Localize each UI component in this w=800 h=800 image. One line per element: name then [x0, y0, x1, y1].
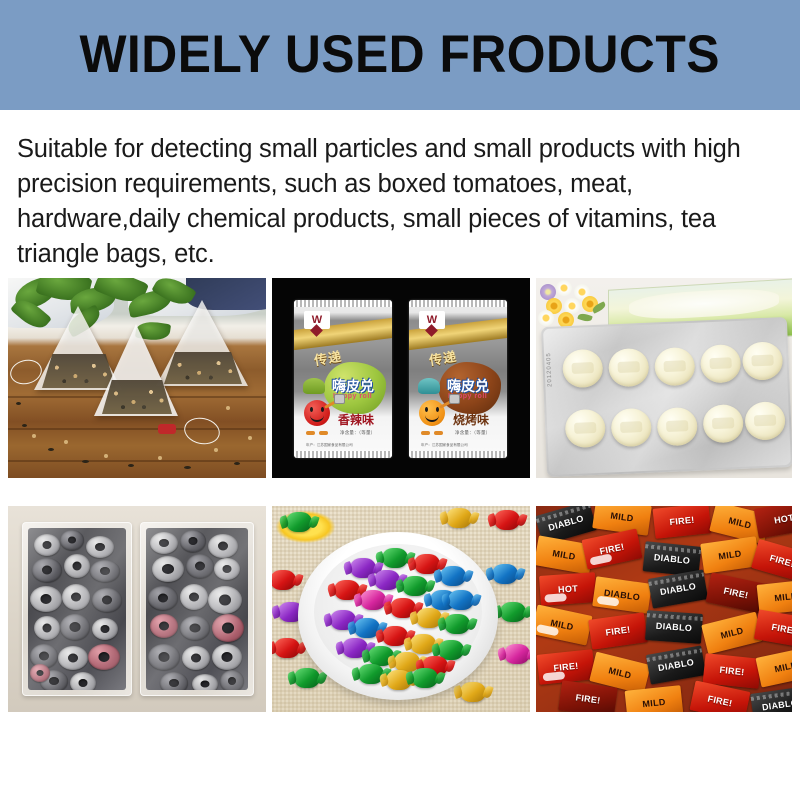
- packet-label: FIRE!: [769, 553, 792, 570]
- packet-label: FIRE!: [575, 692, 601, 705]
- packet-label: DIABLO: [659, 581, 696, 597]
- snack-pack-flavor: 香辣味: [338, 411, 374, 428]
- packet-label: DIABLO: [653, 552, 690, 566]
- photo-hardware-washer-bags: [8, 506, 266, 712]
- packet-label: DIABLO: [761, 698, 792, 712]
- page-header: WIDELY USED FRODUCTS: [0, 0, 800, 110]
- snack-pack-net-weight: 净含量：（等量）: [455, 430, 490, 436]
- page-title: WIDELY USED FRODUCTS: [80, 28, 721, 83]
- gallery-item-foil-candies[interactable]: [272, 506, 530, 712]
- snack-pack-left: W 传递 嗨皮兑 Happy roll: [294, 300, 392, 458]
- packet-label: FIRE!: [707, 694, 734, 709]
- packet-label: MILD: [552, 548, 577, 562]
- packet-label: MILD: [774, 660, 792, 675]
- gallery-item-tea-bags[interactable]: [8, 278, 266, 478]
- packet-label: HOT: [558, 583, 579, 594]
- packet-label: MILD: [718, 548, 742, 561]
- gallery-item-vitamin-blister-pack[interactable]: 美保 20120405: [536, 278, 792, 478]
- packet-label: FIRE!: [553, 661, 579, 674]
- blister-pack: 20120405: [541, 317, 792, 477]
- gallery-item-hardware-washers[interactable]: [8, 506, 266, 712]
- snack-pack-mascot: [302, 378, 334, 434]
- snack-pack-flavor: 烧烤味: [453, 411, 489, 428]
- packet-label: FIRE!: [605, 624, 631, 637]
- washer-bag-right: [140, 522, 254, 696]
- candy-bowl: [298, 532, 498, 700]
- packet-label: HOT: [773, 512, 792, 525]
- packet-label: MILD: [774, 591, 792, 603]
- packet-label: MILD: [610, 510, 634, 523]
- snack-pack-fine-print: 年产：江苏国家食品有限公司: [306, 443, 353, 448]
- packet-label: FIRE!: [719, 665, 745, 678]
- snack-pack-net-weight: 净含量：（等量）: [340, 430, 375, 436]
- snack-pack-fine-print: 年产：江苏国家食品有限公司: [421, 443, 468, 448]
- packet-label: FIRE!: [723, 586, 750, 601]
- photo-sauce-packets: DIABLO MILD FIRE! MILD HOT MILD FIRE! DI…: [536, 506, 792, 712]
- gallery-item-snack-packages[interactable]: W 传递 嗨皮兑 Happy roll: [272, 278, 530, 478]
- packet-label: FIRE!: [771, 622, 792, 636]
- photo-tea-triangle-bags: [8, 278, 266, 478]
- packet-label: FIRE!: [669, 515, 695, 528]
- description-paragraph: Suitable for detecting small particles a…: [17, 132, 777, 272]
- photo-foil-wrapped-candies: [272, 506, 530, 712]
- packet-label: MILD: [642, 697, 666, 709]
- packet-label: MILD: [728, 515, 753, 530]
- photo-snack-packages: W 传递 嗨皮兑 Happy roll: [272, 278, 530, 478]
- snack-pack-right: W 传递 嗨皮兑 Happy roll: [409, 300, 507, 458]
- snack-pack-mascot: [417, 378, 449, 434]
- packet-label: DIABLO: [657, 657, 694, 673]
- packet-label: MILD: [720, 625, 745, 640]
- gallery-item-sauce-packets[interactable]: DIABLO MILD FIRE! MILD HOT MILD FIRE! DI…: [536, 506, 792, 712]
- packet-label: FIRE!: [599, 542, 626, 557]
- photo-blister-pack-tablets: 美保 20120405: [536, 278, 792, 478]
- packet-label: MILD: [608, 665, 633, 680]
- packet-label: DIABLO: [656, 621, 693, 634]
- washer-bag-left: [22, 522, 132, 696]
- product-image-gallery: W 传递 嗨皮兑 Happy roll: [8, 278, 792, 712]
